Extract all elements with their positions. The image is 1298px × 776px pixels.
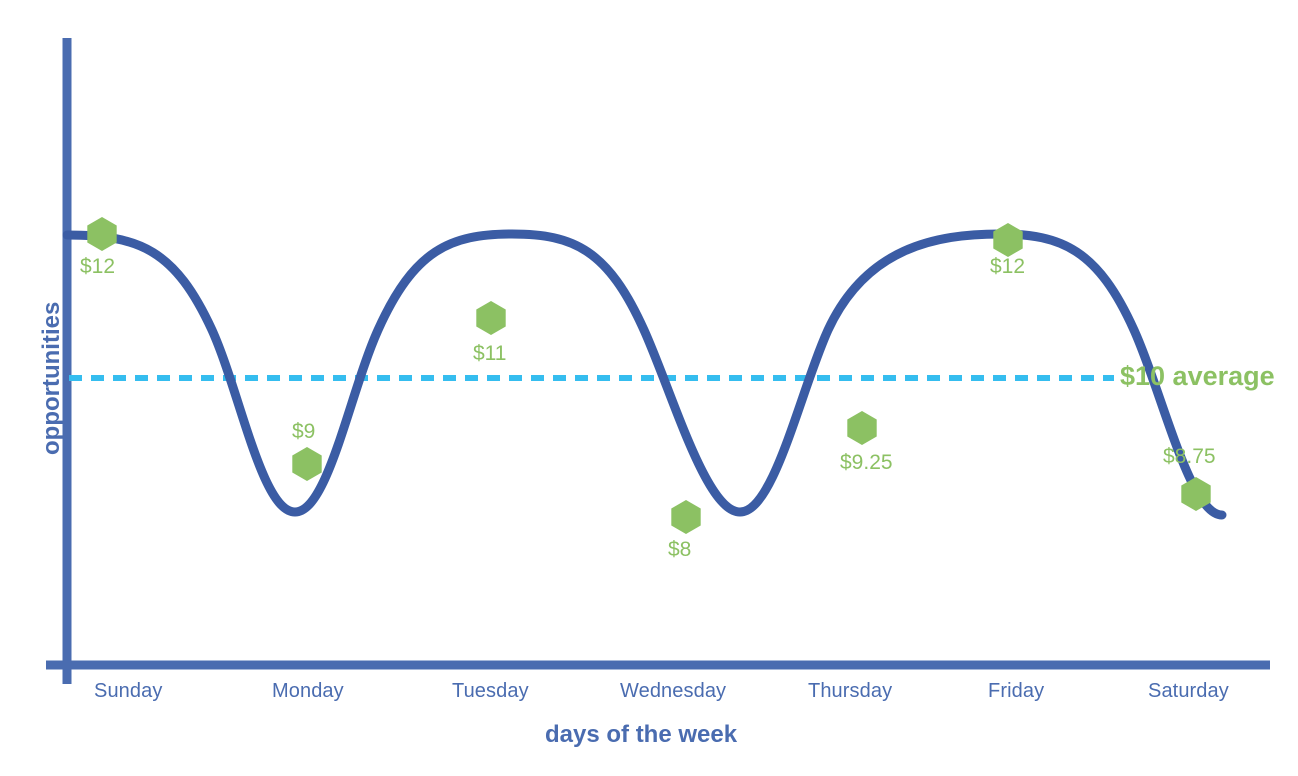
x-tick-label-tuesday: Tuesday <box>452 681 529 701</box>
marker-point-2 <box>476 301 505 335</box>
opportunities-curve <box>67 234 1222 515</box>
marker-point-4 <box>847 411 876 445</box>
marker-point-5 <box>993 223 1022 257</box>
marker-point-3 <box>671 500 700 534</box>
x-tick-label-friday: Friday <box>988 681 1044 701</box>
x-tick-label-wednesday: Wednesday <box>620 681 726 701</box>
marker-point-1 <box>292 447 321 481</box>
x-axis-title: days of the week <box>545 723 737 747</box>
x-tick-label-saturday: Saturday <box>1148 681 1229 701</box>
point-label-thursday: $9.25 <box>840 452 893 473</box>
average-line-label: $10 average <box>1120 363 1275 390</box>
point-label-wednesday: $8 <box>668 539 691 560</box>
point-label-saturday: $8.75 <box>1163 446 1216 467</box>
x-tick-label-sunday: Sunday <box>94 681 162 701</box>
point-label-sunday: $12 <box>80 256 115 277</box>
chart-canvas <box>0 0 1298 776</box>
point-label-friday: $12 <box>990 256 1025 277</box>
chart-container: opportunities days of the week Sunday Mo… <box>0 0 1298 776</box>
point-label-tuesday: $11 <box>473 343 506 364</box>
x-tick-label-monday: Monday <box>272 681 344 701</box>
x-tick-label-thursday: Thursday <box>808 681 892 701</box>
y-axis-title: opportunities <box>40 302 64 455</box>
point-label-monday: $9 <box>292 421 315 442</box>
marker-point-0 <box>87 217 116 251</box>
